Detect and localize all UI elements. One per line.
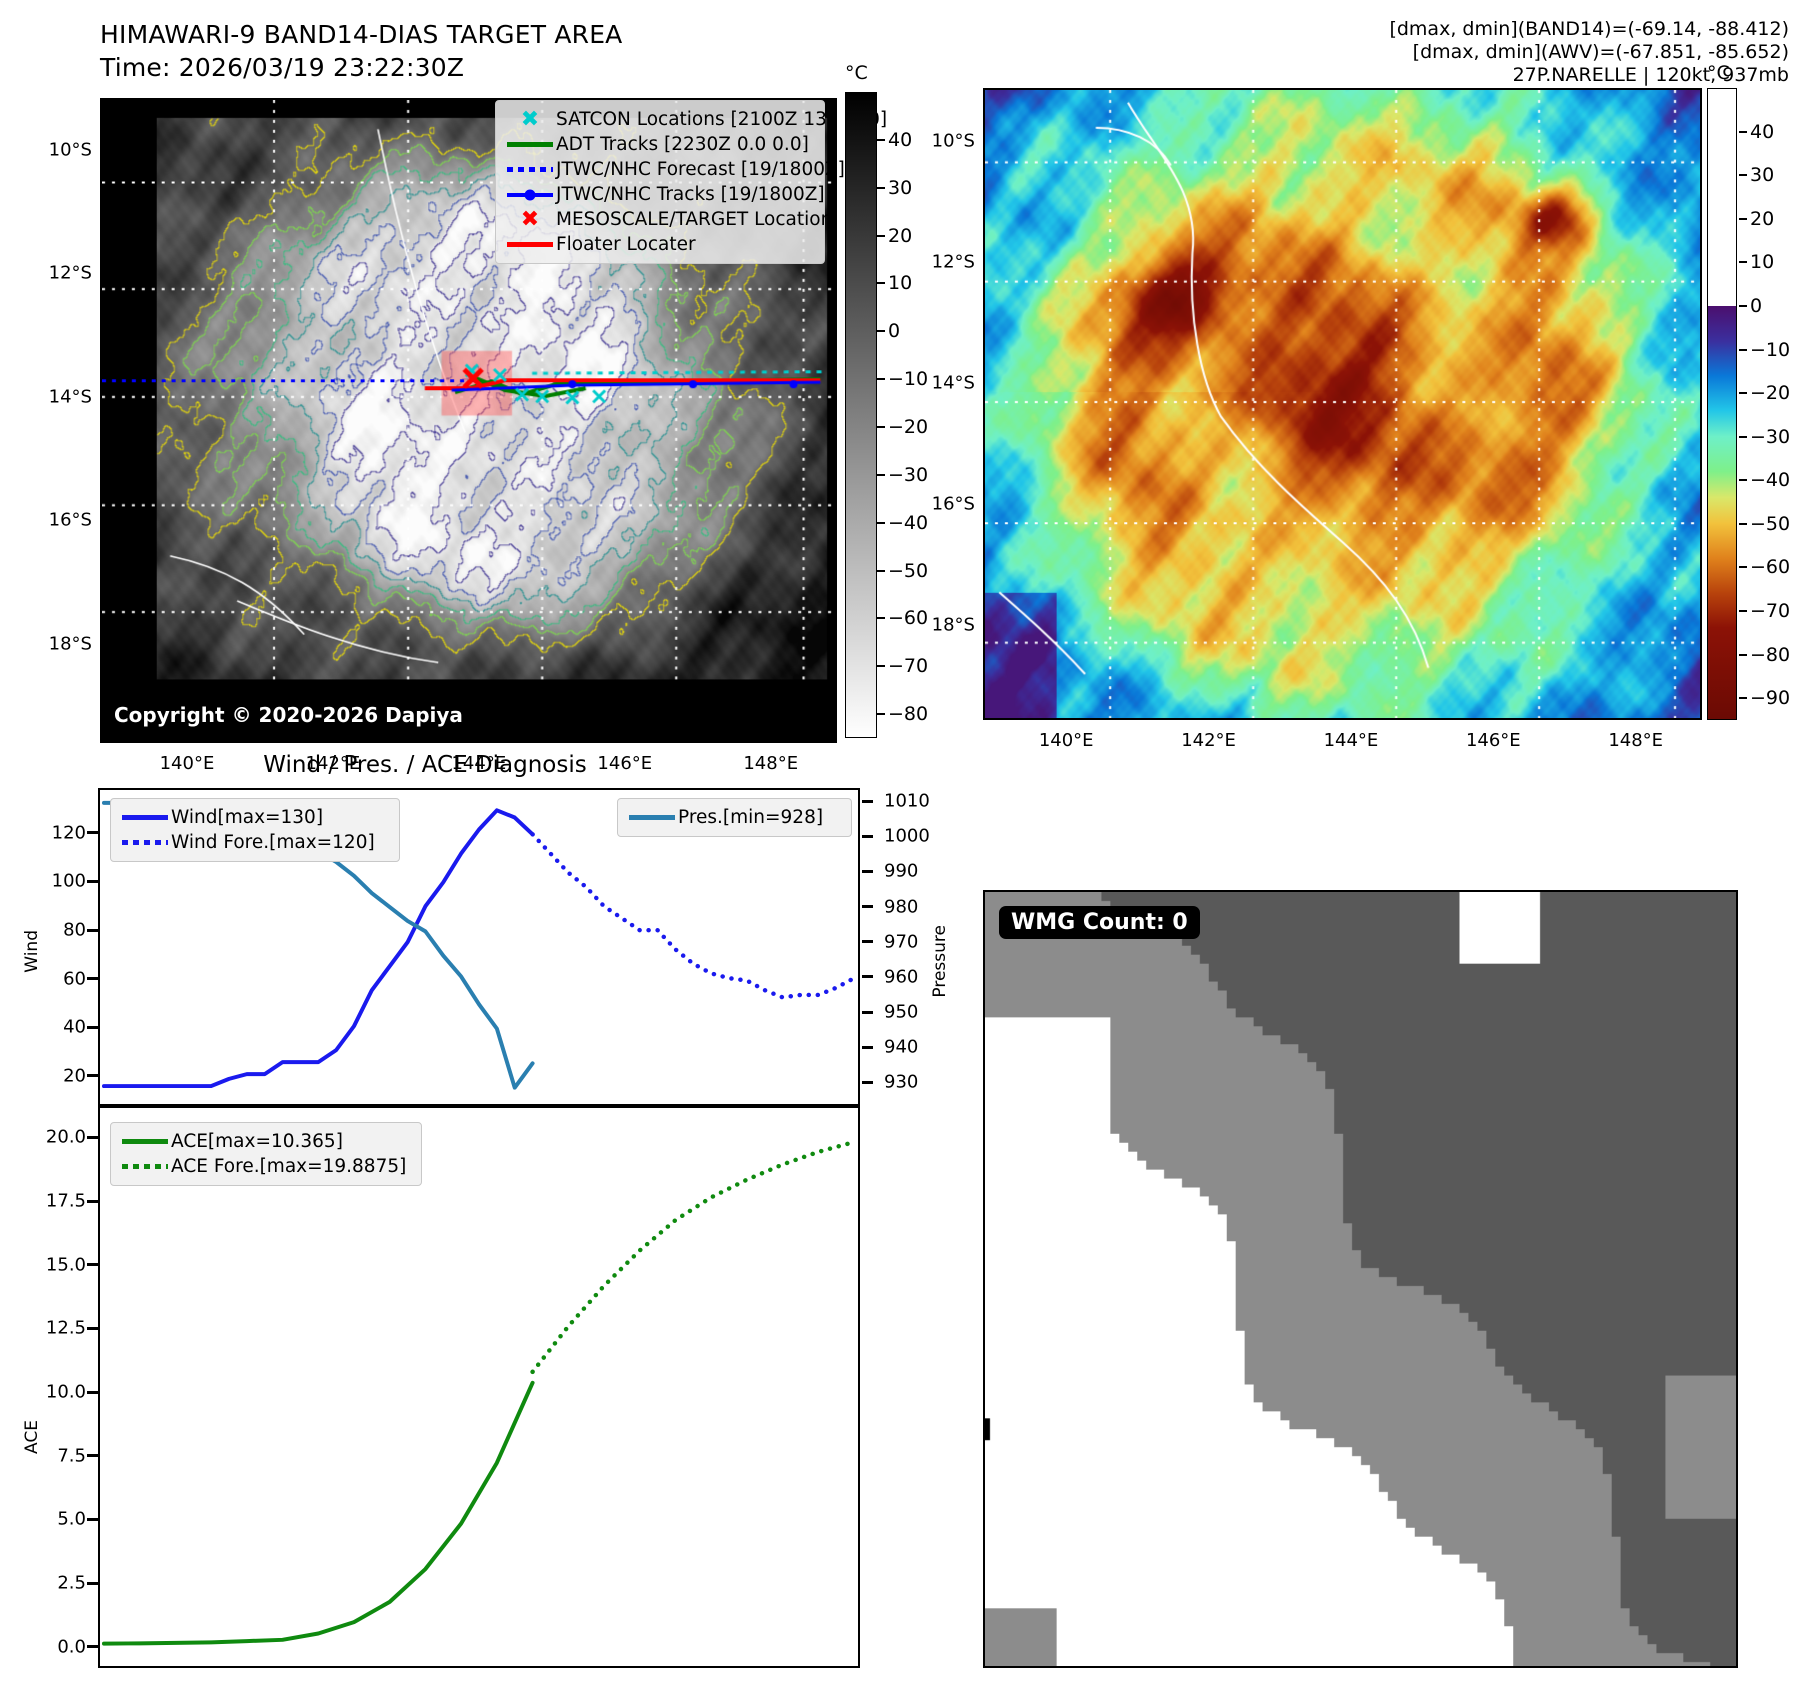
legend-row: ACE[max=10.365] xyxy=(119,1129,411,1154)
legend-label: Wind Fore.[max=120] xyxy=(171,832,375,853)
legend-row: Wind[max=130] xyxy=(119,805,389,830)
longitude-tick-label: 144°E xyxy=(1324,730,1379,751)
axis-tick-label: 60 xyxy=(28,968,86,989)
axis-tick-label: 40 xyxy=(28,1017,86,1038)
awv-colorbar[interactable] xyxy=(1707,88,1737,720)
axis-tick-label: 940 xyxy=(884,1037,918,1058)
wmg-count-badge: WMG Count: 0 xyxy=(999,906,1200,939)
ace-legend: ACE[max=10.365]ACE Fore.[max=19.8875] xyxy=(110,1122,422,1186)
colorbar-tick xyxy=(1739,305,1747,307)
legend-key xyxy=(504,157,556,182)
awv-range: [dmax, dmin](AWV)=(-67.851, -85.652) xyxy=(1389,41,1789,64)
axis-tick-label: 7.5 xyxy=(28,1445,86,1466)
colorbar-tick-label: −20 xyxy=(888,416,928,438)
band14-range: [dmax, dmin](BAND14)=(-69.14, -88.412) xyxy=(1389,18,1789,41)
legend-key xyxy=(504,182,556,207)
axis-tick xyxy=(87,1391,98,1394)
solid-line-swatch xyxy=(629,815,675,820)
axis-tick-label: 17.5 xyxy=(28,1191,86,1212)
axis-tick-label: 100 xyxy=(28,871,86,892)
axis-tick-label: 990 xyxy=(884,861,918,882)
colorbar-tick xyxy=(1739,174,1747,176)
axis-tick-label: 10.0 xyxy=(28,1382,86,1403)
axis-tick-label: 20 xyxy=(28,1065,86,1086)
legend-row: ✖MESOSCALE/TARGET Location xyxy=(504,207,814,232)
colorbar-tick xyxy=(1739,436,1747,438)
longitude-tick-label: 140°E xyxy=(1039,730,1094,751)
latitude-tick-label: 10°S xyxy=(22,139,92,160)
colorbar-tick-label: −90 xyxy=(1750,687,1790,709)
axis-tick xyxy=(87,1026,98,1029)
axis-tick xyxy=(87,1074,98,1077)
awv-colorbar-unit: °C xyxy=(1707,62,1730,84)
line-marker-swatch xyxy=(507,192,553,197)
axis-tick xyxy=(87,1582,98,1585)
legend-label: Wind[max=130] xyxy=(171,807,323,828)
latitude-tick-label: 14°S xyxy=(905,372,975,393)
legend-row: Floater Locater xyxy=(504,232,814,257)
latitude-tick-label: 18°S xyxy=(905,614,975,635)
diagnosis-title: Wind / Pres. / ACE Diagnosis xyxy=(263,752,586,778)
latitude-tick-label: 16°S xyxy=(905,493,975,514)
axis-tick xyxy=(862,1081,873,1084)
latitude-tick-label: 10°S xyxy=(905,130,975,151)
latitude-tick-label: 16°S xyxy=(22,510,92,531)
colorbar-tick xyxy=(877,139,885,141)
colorbar-tick xyxy=(1739,610,1747,612)
axis-tick-label: 12.5 xyxy=(28,1318,86,1339)
axis-tick xyxy=(87,1518,98,1521)
colorbar-tick-label: −40 xyxy=(1750,469,1790,491)
colorbar-tick xyxy=(877,426,885,428)
axis-tick xyxy=(87,1645,98,1648)
legend-row: ACE Fore.[max=19.8875] xyxy=(119,1154,411,1179)
axis-tick xyxy=(87,880,98,883)
axis-tick-label: 980 xyxy=(884,896,918,917)
wmg-panel[interactable]: WMG Count: 0 xyxy=(983,890,1738,1668)
dotted-line-swatch xyxy=(507,167,553,172)
legend-key: ✖ xyxy=(504,207,556,232)
axis-tick-label: 970 xyxy=(884,931,918,952)
colorbar-tick xyxy=(1739,349,1747,351)
colorbar-tick-label: −70 xyxy=(888,655,928,677)
colorbar-tick xyxy=(877,617,885,619)
axis-tick xyxy=(862,905,873,908)
axis-tick xyxy=(862,975,873,978)
axis-tick xyxy=(862,800,873,803)
colorbar-tick-label: −50 xyxy=(1750,513,1790,535)
awv-satellite-panel[interactable] xyxy=(983,88,1702,720)
colorbar-tick xyxy=(877,474,885,476)
colorbar-tick xyxy=(877,235,885,237)
dotted-line-swatch xyxy=(122,1164,168,1169)
series-line xyxy=(104,1383,533,1644)
colorbar-tick-label: 0 xyxy=(888,320,900,342)
axis-tick-label: 2.5 xyxy=(28,1573,86,1594)
longitude-tick-label: 140°E xyxy=(160,753,215,774)
axis-tick-label: 960 xyxy=(884,966,918,987)
legend-label: JTWC/NHC Tracks [19/1800Z] xyxy=(556,184,825,205)
colorbar-tick xyxy=(1739,131,1747,133)
axis-tick xyxy=(862,870,873,873)
axis-tick xyxy=(87,1200,98,1203)
colorbar-tick xyxy=(1739,697,1747,699)
axis-tick xyxy=(87,1454,98,1457)
legend-row: ✖SATCON Locations [2100Z 132 930] xyxy=(504,107,814,132)
axis-tick xyxy=(87,831,98,834)
axis-tick xyxy=(87,1327,98,1330)
colorbar-tick-label: −10 xyxy=(1750,339,1790,361)
axis-tick-label: 5.0 xyxy=(28,1509,86,1530)
legend-label: JTWC/NHC Forecast [19/1800Z] xyxy=(556,159,845,180)
latitude-tick-label: 14°S xyxy=(22,386,92,407)
legend-key xyxy=(504,232,556,257)
page-title: HIMAWARI-9 BAND14-DIAS TARGET AREA Time:… xyxy=(100,18,623,84)
colorbar-tick xyxy=(1739,392,1747,394)
colorbar-tick xyxy=(877,330,885,332)
legend-label: Floater Locater xyxy=(556,234,696,255)
colorbar-tick-label: 30 xyxy=(888,177,912,199)
legend-row: Pres.[min=928] xyxy=(626,805,841,830)
series-line xyxy=(533,834,854,997)
solid-line-swatch xyxy=(507,242,553,247)
pressure-axis-label: Pressure xyxy=(930,925,950,998)
colorbar-tick xyxy=(877,378,885,380)
latitude-tick-label: 12°S xyxy=(22,263,92,284)
legend-key xyxy=(504,132,556,157)
x-icon: ✖ xyxy=(521,209,539,231)
colorbar-tick-label: −80 xyxy=(1750,644,1790,666)
longitude-tick-label: 146°E xyxy=(597,753,652,774)
timestamp-line: Time: 2026/03/19 23:22:30Z xyxy=(100,51,623,84)
legend-key xyxy=(119,830,171,855)
axis-tick-label: 15.0 xyxy=(28,1254,86,1275)
colorbar-tick-label: −80 xyxy=(888,703,928,725)
longitude-tick-label: 142°E xyxy=(1181,730,1236,751)
colorbar-tick-label: −20 xyxy=(1750,382,1790,404)
legend-label: ADT Tracks [2230Z 0.0 0.0] xyxy=(556,134,809,155)
copyright-text: Copyright © 2020-2026 Dapiya xyxy=(114,703,463,727)
axis-tick-label: 80 xyxy=(28,920,86,941)
axis-tick xyxy=(862,940,873,943)
colorbar-tick xyxy=(877,665,885,667)
series-line xyxy=(533,1142,854,1372)
colorbar-tick xyxy=(1739,261,1747,263)
legend-label: MESOSCALE/TARGET Location xyxy=(556,209,832,230)
colorbar-tick xyxy=(877,187,885,189)
solid-line-swatch xyxy=(507,142,553,147)
axis-tick-label: 930 xyxy=(884,1072,918,1093)
legend-key xyxy=(626,805,678,830)
longitude-tick-label: 148°E xyxy=(743,753,798,774)
legend-key xyxy=(119,1154,171,1179)
colorbar-tick-label: 10 xyxy=(1750,251,1774,273)
x-icon: ✖ xyxy=(521,109,539,131)
title-line: HIMAWARI-9 BAND14-DIAS TARGET AREA xyxy=(100,18,623,51)
axis-tick-label: 120 xyxy=(28,822,86,843)
axis-tick xyxy=(87,977,98,980)
longitude-tick-label: 146°E xyxy=(1466,730,1521,751)
colorbar-tick-label: −50 xyxy=(888,560,928,582)
ir-colorbar[interactable] xyxy=(845,92,877,738)
axis-tick xyxy=(87,1136,98,1139)
ir-map-legend: ✖SATCON Locations [2100Z 132 930]ADT Tra… xyxy=(495,100,825,264)
legend-label: ACE[max=10.365] xyxy=(171,1131,343,1152)
colorbar-tick xyxy=(1739,218,1747,220)
ace-chart[interactable] xyxy=(98,1106,860,1668)
ir-colorbar-unit: °C xyxy=(845,62,868,84)
solid-line-swatch xyxy=(122,815,168,820)
axis-tick xyxy=(862,1011,873,1014)
colorbar-tick-label: −60 xyxy=(1750,556,1790,578)
longitude-tick-label: 148°E xyxy=(1608,730,1663,751)
axis-tick-label: 1010 xyxy=(884,791,930,812)
axis-tick xyxy=(87,1263,98,1266)
colorbar-tick xyxy=(877,522,885,524)
colorbar-tick-label: 30 xyxy=(1750,164,1774,186)
colorbar-tick xyxy=(877,570,885,572)
legend-label: SATCON Locations [2100Z 132 930] xyxy=(556,109,887,130)
legend-key xyxy=(119,805,171,830)
colorbar-tick xyxy=(877,713,885,715)
colorbar-tick xyxy=(1739,566,1747,568)
marker-dot xyxy=(525,189,536,200)
colorbar-tick-label: 20 xyxy=(1750,208,1774,230)
legend-label: Pres.[min=928] xyxy=(678,807,823,828)
legend-row: ADT Tracks [2230Z 0.0 0.0] xyxy=(504,132,814,157)
legend-row: JTWC/NHC Forecast [19/1800Z] xyxy=(504,157,814,182)
colorbar-tick xyxy=(1739,654,1747,656)
axis-tick xyxy=(862,1046,873,1049)
latitude-tick-label: 12°S xyxy=(905,251,975,272)
colorbar-tick-label: −40 xyxy=(888,512,928,534)
legend-row: Wind Fore.[max=120] xyxy=(119,830,389,855)
colorbar-tick xyxy=(877,282,885,284)
colorbar-tick xyxy=(1739,523,1747,525)
colorbar-tick xyxy=(1739,479,1747,481)
latitude-tick-label: 18°S xyxy=(22,634,92,655)
solid-line-swatch xyxy=(122,1139,168,1144)
colorbar-tick-label: 40 xyxy=(1750,121,1774,143)
axis-tick xyxy=(862,835,873,838)
legend-label: ACE Fore.[max=19.8875] xyxy=(171,1156,406,1177)
colorbar-tick-label: 20 xyxy=(888,225,912,247)
pressure-legend: Pres.[min=928] xyxy=(617,798,852,837)
colorbar-tick-label: −70 xyxy=(1750,600,1790,622)
axis-tick-label: 950 xyxy=(884,1002,918,1023)
colorbar-tick-label: 0 xyxy=(1750,295,1762,317)
wind-legend: Wind[max=130]Wind Fore.[max=120] xyxy=(110,798,400,862)
axis-tick-label: 20.0 xyxy=(28,1127,86,1148)
axis-tick xyxy=(87,929,98,932)
dotted-line-swatch xyxy=(122,840,168,845)
axis-tick-label: 0.0 xyxy=(28,1636,86,1657)
colorbar-tick-label: 10 xyxy=(888,272,912,294)
legend-key: ✖ xyxy=(504,107,556,132)
legend-row: JTWC/NHC Tracks [19/1800Z] xyxy=(504,182,814,207)
axis-tick-label: 1000 xyxy=(884,826,930,847)
colorbar-tick-label: −30 xyxy=(1750,426,1790,448)
legend-key xyxy=(119,1129,171,1154)
colorbar-tick-label: −30 xyxy=(888,464,928,486)
